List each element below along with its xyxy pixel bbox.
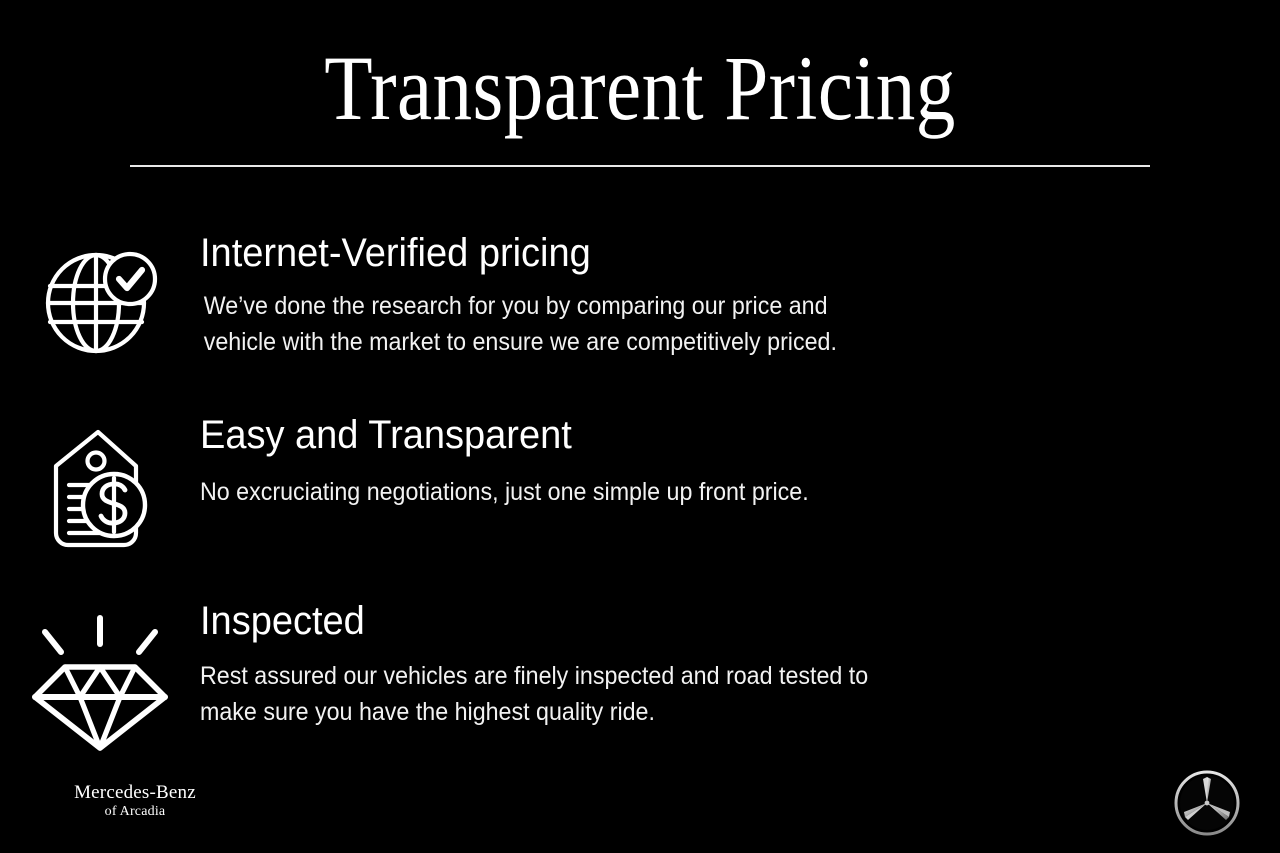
feature-heading: Easy and Transparent — [200, 414, 1084, 456]
title-area: Transparent Pricing — [0, 42, 1280, 134]
feature-heading: Internet-Verified pricing — [200, 232, 1084, 274]
feature-item-easy-and-transparent: Easy and Transparent No excruciating neg… — [0, 414, 1280, 564]
brand-subtitle: of Arcadia — [40, 804, 230, 820]
price-tag-dollar-icon — [48, 428, 152, 552]
slide-root: Transparent Pricing Internet-Verified pr… — [0, 0, 1280, 853]
page-title: Transparent Pricing — [90, 42, 1191, 134]
feature-body: No excruciating negotiations, just one s… — [200, 474, 1000, 510]
feature-text-wrap: Inspected Rest assured our vehicles are … — [200, 600, 1280, 730]
brand-emblem — [1172, 768, 1242, 838]
diamond-sparkle-icon — [25, 614, 175, 754]
feature-list: Internet-Verified pricing We’ve done the… — [0, 232, 1280, 754]
feature-heading: Inspected — [200, 600, 1084, 642]
feature-icon-wrap — [0, 600, 200, 754]
feature-item-internet-verified-pricing: Internet-Verified pricing We’ve done the… — [0, 232, 1280, 382]
feature-body: Rest assured our vehicles are finely ins… — [200, 658, 1000, 730]
mercedes-benz-star-icon — [1172, 768, 1242, 838]
title-divider — [130, 165, 1150, 167]
feature-icon-wrap — [0, 414, 200, 552]
feature-text-wrap: Internet-Verified pricing We’ve done the… — [200, 232, 1280, 360]
feature-icon-wrap — [0, 232, 200, 356]
brand-wordmark: Mercedes-Benz of Arcadia — [40, 782, 230, 820]
feature-body: We’ve done the research for you by compa… — [200, 288, 1004, 360]
feature-text-wrap: Easy and Transparent No excruciating neg… — [200, 414, 1280, 510]
feature-item-inspected: Inspected Rest assured our vehicles are … — [0, 600, 1280, 754]
globe-check-icon — [41, 246, 159, 356]
brand-name: Mercedes-Benz — [40, 782, 230, 804]
